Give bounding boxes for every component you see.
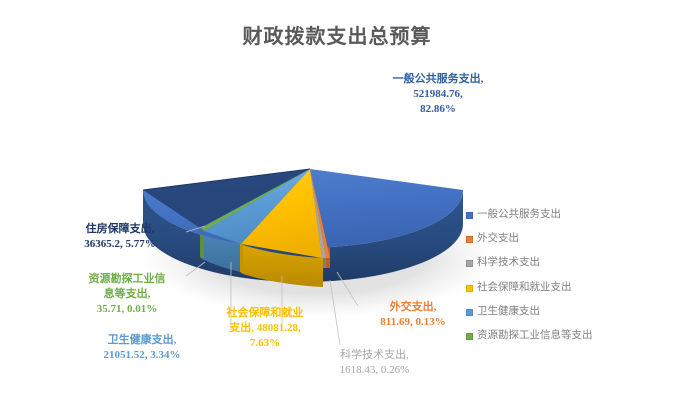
data-label-housing-security: 住房保障支出, 36365.2, 5.77% [40,222,200,252]
chart-legend: 一般公共服务支出 外交支出 科学技术支出 社会保障和就业支出 卫生健康支出 资源… [466,208,666,353]
legend-label: 外交支出 [477,232,519,246]
legend-label: 卫生健康支出 [477,305,540,319]
legend-label: 科学技术支出 [477,256,540,270]
legend-swatch-icon [466,212,473,219]
slice-side-social-security-cut [240,243,243,274]
data-label-health: 卫生健康支出, 21051.52, 3.34% [62,333,222,363]
legend-swatch-icon [466,285,473,292]
legend-item-social-security[interactable]: 社会保障和就业支出 [466,281,666,295]
data-label-social-security: 社会保障和就业 支出, 48081.28, 7.63% [200,306,330,351]
legend-label: 社会保障和就业支出 [477,281,572,295]
legend-label: 一般公共服务支出 [477,208,561,222]
legend-swatch-icon [466,333,473,340]
pie-chart-figure: 财政拨款支出总预算 [0,0,674,409]
legend-item-diplomacy[interactable]: 外交支出 [466,232,666,246]
data-label-resource-exploration: 资源勘探工业信 息等支出, 35.71, 0.01% [52,272,202,317]
legend-swatch-icon [466,260,473,267]
data-label-science-technology: 科学技术支出, 1618.43, 0.26% [312,348,437,378]
data-label-general-public-service: 一般公共服务支出, 521984.76, 82.86% [368,72,508,117]
legend-swatch-icon [466,236,473,243]
legend-item-health[interactable]: 卫生健康支出 [466,305,666,319]
legend-item-general-public-service[interactable]: 一般公共服务支出 [466,208,666,222]
data-label-diplomacy: 外交支出, 811.69, 0.13% [358,300,468,330]
legend-item-resource-exploration[interactable]: 资源勘探工业信息等支出 [466,329,666,343]
legend-item-science-technology[interactable]: 科学技术支出 [466,256,666,270]
legend-swatch-icon [466,309,473,316]
legend-label: 资源勘探工业信息等支出 [477,329,593,343]
